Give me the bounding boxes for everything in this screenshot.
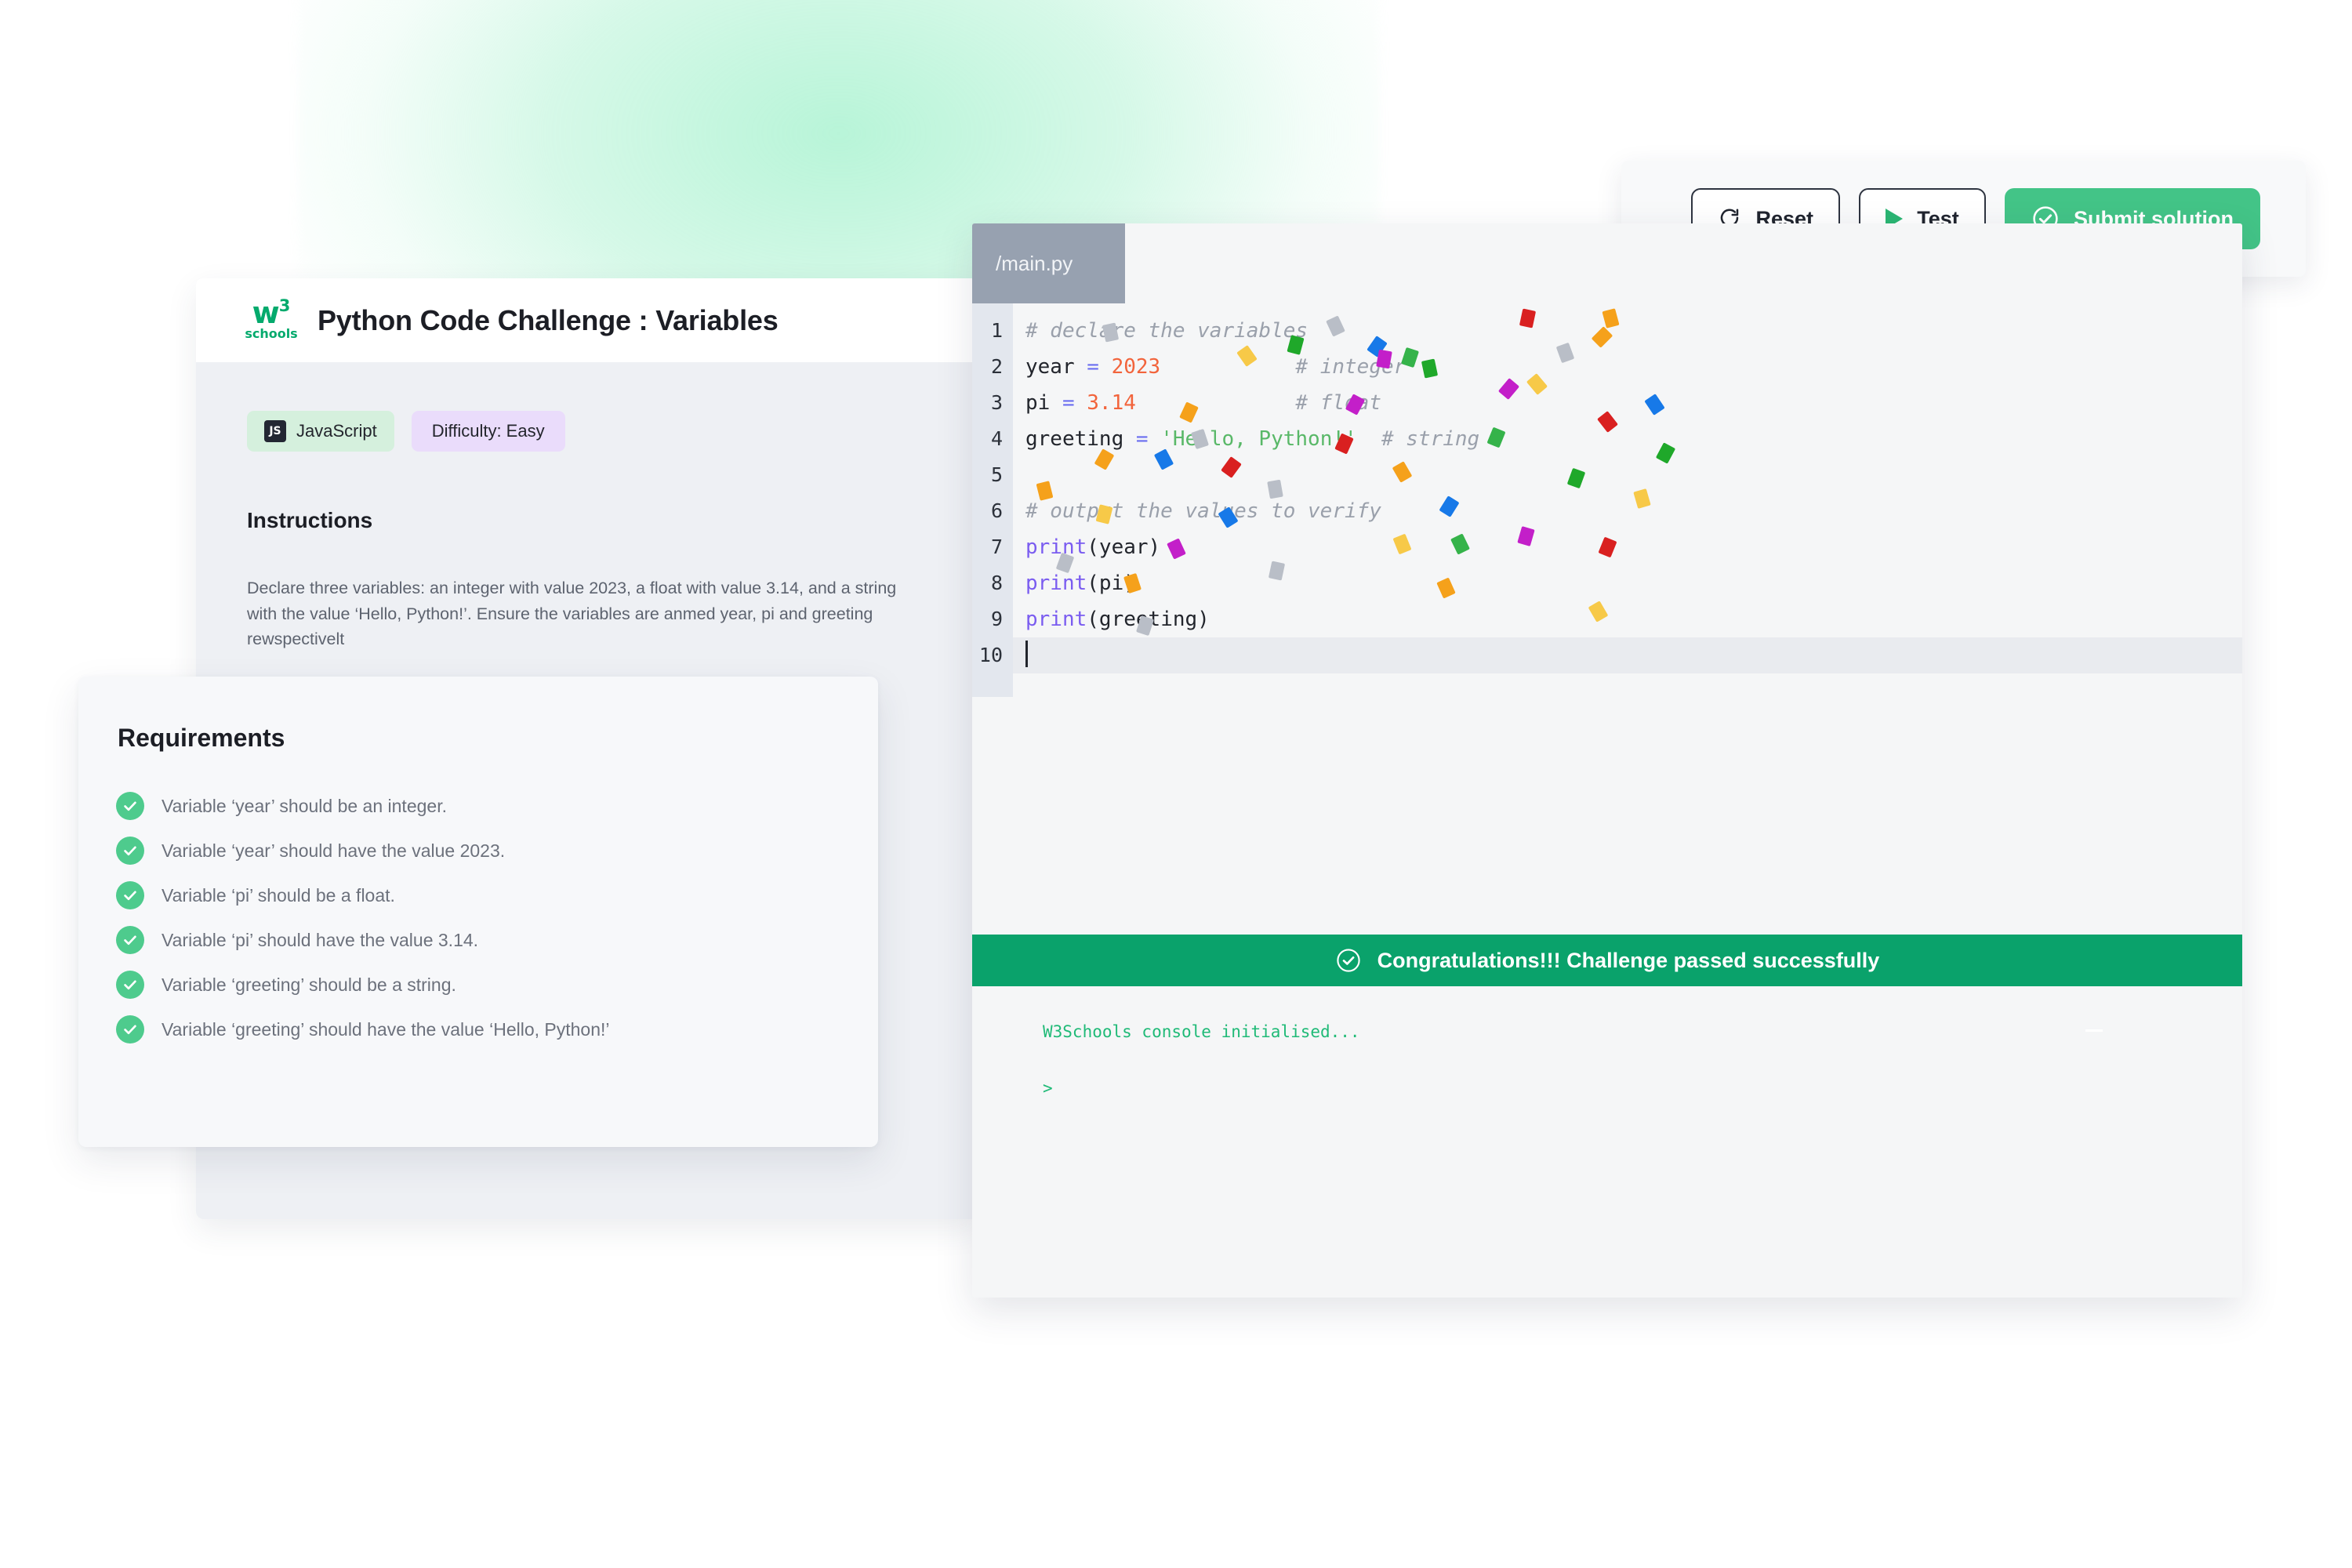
logo-superscript-3: 3 [279, 298, 291, 314]
check-icon [116, 971, 144, 999]
requirement-text: Variable ‘greeting’ should have the valu… [162, 1019, 610, 1040]
code-token-op: = [1062, 391, 1075, 415]
requirement-item: Variable ‘year’ should have the value 20… [116, 837, 834, 865]
code-line[interactable]: greeting = 'Hello, Python!' # string [1013, 421, 2242, 457]
line-number: 8 [972, 565, 1003, 601]
code-line[interactable] [1013, 637, 2242, 673]
file-tab-main-py[interactable]: /main.py [972, 223, 1125, 303]
line-number: 7 [972, 529, 1003, 565]
requirement-item: Variable ‘pi’ should have the value 3.14… [116, 926, 834, 954]
file-tab-label: /main.py [996, 252, 1073, 276]
editor-window: /main.py 12345678910 # declare the varia… [972, 223, 2242, 1298]
code-token-fn: print [1025, 535, 1087, 559]
language-badge: JS JavaScript [247, 411, 394, 452]
challenge-body: JS JavaScript Difficulty: Easy Instructi… [196, 362, 980, 652]
challenge-header: w 3 schools Python Code Challenge : Vari… [196, 278, 980, 362]
text-cursor [1025, 641, 1028, 667]
badge-row: JS JavaScript Difficulty: Easy [247, 411, 929, 452]
code-token-op: = [1136, 427, 1149, 451]
code-token-comment: # output the values to verify [1025, 499, 1381, 523]
code-line[interactable]: print(greeting) [1013, 601, 2242, 637]
code-area[interactable]: 12345678910 # declare the variablesyear … [972, 303, 2242, 697]
line-number: 4 [972, 421, 1003, 457]
requirement-text: Variable ‘greeting’ should be a string. [162, 975, 456, 996]
line-number: 1 [972, 313, 1003, 349]
code-content[interactable]: # declare the variablesyear = 2023 # int… [1013, 303, 2242, 697]
w3schools-logo: w 3 schools [247, 300, 296, 340]
console-output[interactable]: W3Schools console initialised... > [972, 986, 2242, 1221]
code-token-comment: # declare the variables [1025, 319, 1308, 343]
success-banner-text: Congratulations!!! Challenge passed succ… [1377, 949, 1880, 973]
code-token-plain [1075, 391, 1087, 415]
code-token-str: 'Hello, Python!' [1160, 427, 1356, 451]
check-icon [116, 1015, 144, 1044]
w3-mark: w 3 [252, 300, 291, 325]
requirement-item: Variable ‘year’ should be an integer. [116, 792, 834, 820]
console-dash-marker [2085, 1029, 2103, 1032]
code-token-num: 3.14 [1087, 391, 1136, 415]
requirement-item: Variable ‘greeting’ should have the valu… [116, 1015, 834, 1044]
code-token-plain: pi [1025, 391, 1062, 415]
requirements-list: Variable ‘year’ should be an integer.Var… [116, 792, 834, 1044]
line-number: 9 [972, 601, 1003, 637]
code-token-plain: (pi) [1087, 572, 1136, 595]
check-icon [116, 837, 144, 865]
check-icon [116, 926, 144, 954]
code-line[interactable] [1013, 457, 2242, 493]
instructions-heading: Instructions [247, 508, 929, 533]
requirement-item: Variable ‘pi’ should be a float. [116, 881, 834, 909]
editor-canvas [972, 697, 2242, 935]
code-token-plain: (greeting) [1087, 608, 1210, 631]
console-prompt: > [1043, 1079, 2242, 1098]
requirement-text: Variable ‘pi’ should have the value 3.14… [162, 930, 478, 951]
instructions-text: Declare three variables: an integer with… [247, 575, 929, 652]
code-line[interactable]: print(pi) [1013, 565, 2242, 601]
difficulty-badge: Difficulty: Easy [412, 411, 565, 452]
success-banner: Congratulations!!! Challenge passed succ… [972, 935, 2242, 986]
check-circle-icon [1335, 947, 1362, 974]
code-token-comment: # float [1295, 391, 1381, 415]
line-number: 2 [972, 349, 1003, 385]
language-badge-label: JavaScript [296, 421, 377, 441]
requirement-item: Variable ‘greeting’ should be a string. [116, 971, 834, 999]
check-icon [116, 792, 144, 820]
code-token-plain: year [1025, 355, 1087, 379]
code-token-plain [1160, 355, 1295, 379]
code-token-comment: # integer [1295, 355, 1406, 379]
code-token-plain [1099, 355, 1112, 379]
line-number: 3 [972, 385, 1003, 421]
code-token-plain: (year) [1087, 535, 1160, 559]
code-token-comment: # string [1381, 427, 1479, 451]
code-line[interactable]: pi = 3.14 # float [1013, 385, 2242, 421]
code-token-num: 2023 [1112, 355, 1161, 379]
code-token-plain [1149, 427, 1161, 451]
code-line[interactable]: year = 2023 # integer [1013, 349, 2242, 385]
code-token-fn: print [1025, 572, 1087, 595]
console-line-init: W3Schools console initialised... [1043, 1022, 2242, 1041]
line-number: 5 [972, 457, 1003, 493]
requirement-text: Variable ‘year’ should be an integer. [162, 796, 447, 817]
logo-schools-word: schools [245, 328, 297, 340]
line-number: 6 [972, 493, 1003, 529]
requirement-text: Variable ‘pi’ should be a float. [162, 885, 395, 906]
requirements-heading: Requirements [118, 724, 834, 753]
requirements-card: Requirements Variable ‘year’ should be a… [78, 677, 878, 1147]
logo-w-glyph: w [252, 300, 278, 325]
difficulty-badge-label: Difficulty: Easy [432, 421, 545, 441]
javascript-icon: JS [264, 420, 286, 442]
check-icon [116, 881, 144, 909]
line-number: 10 [972, 637, 1003, 673]
code-token-plain: greeting [1025, 427, 1136, 451]
page-title: Python Code Challenge : Variables [318, 304, 779, 337]
code-token-op: = [1087, 355, 1099, 379]
line-number-gutter: 12345678910 [972, 303, 1013, 697]
code-line[interactable]: # declare the variables [1013, 313, 2242, 349]
code-token-fn: print [1025, 608, 1087, 631]
requirement-text: Variable ‘year’ should have the value 20… [162, 840, 505, 862]
code-token-plain [1136, 391, 1296, 415]
code-line[interactable]: print(year) [1013, 529, 2242, 565]
code-line[interactable]: # output the values to verify [1013, 493, 2242, 529]
code-token-plain [1357, 427, 1381, 451]
